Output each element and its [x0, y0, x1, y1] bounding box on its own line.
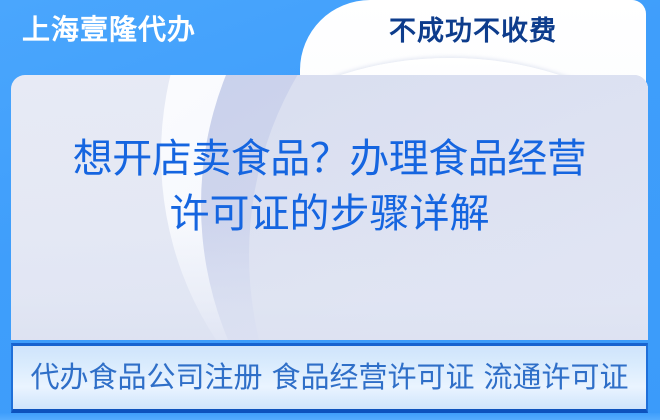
brand-name: 上海壹隆代办: [22, 16, 196, 44]
keyword-item-2: 流通许可证: [484, 360, 629, 394]
keyword-item-1: 食品经营许可证: [271, 360, 474, 394]
keyword-bar: 代办食品公司注册食品经营许可证流通许可证: [11, 343, 648, 413]
poster-canvas: 上海壹隆代办 不成功不收费 想开店卖食品？办理食品经营 许可证的步骤详解 代办食…: [0, 0, 660, 420]
headline: 想开店卖食品？办理食品经营 许可证的步骤详解: [11, 132, 648, 242]
keyword-item-0: 代办食品公司注册: [30, 360, 262, 394]
headline-line-1: 想开店卖食品？办理食品经营: [11, 132, 648, 187]
headline-line-2: 许可证的步骤详解: [11, 187, 648, 242]
keyword-list: 代办食品公司注册食品经营许可证流通许可证: [30, 363, 628, 392]
slogan-text: 不成功不收费: [300, 18, 646, 45]
bottom-blue-strip: [0, 413, 660, 420]
